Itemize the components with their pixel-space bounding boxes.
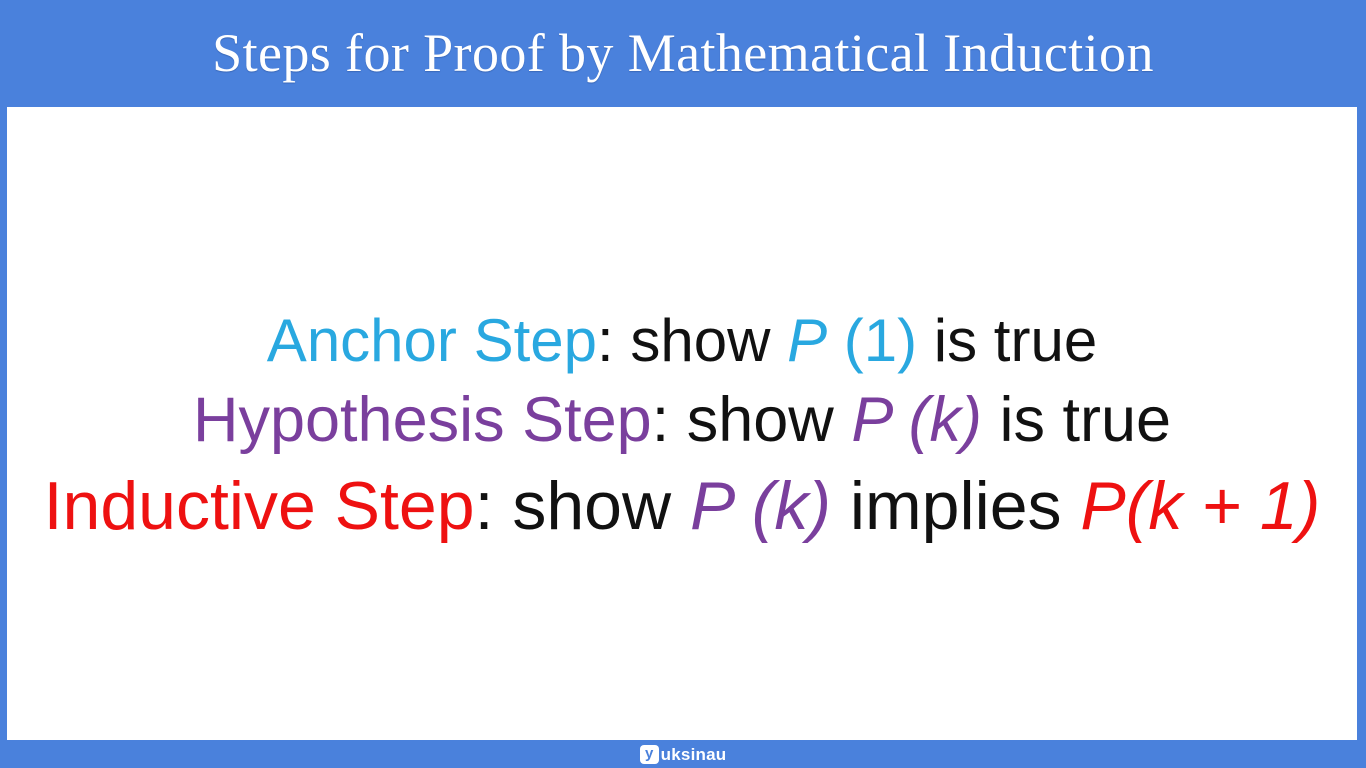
title-banner: Steps for Proof by Mathematical Inductio…: [0, 0, 1366, 106]
predicate-arg-anchor: (1): [827, 307, 917, 374]
step-label-inductive: Inductive Step: [44, 468, 475, 544]
predicate-arg-hypothesis: (k): [891, 385, 982, 455]
conclusion-symbol-inductive: P: [1080, 468, 1125, 544]
page-title: Steps for Proof by Mathematical Inductio…: [212, 25, 1154, 82]
step-tail-inductive: implies: [831, 468, 1080, 544]
induction-steps-list: Anchor Step: show P (1) is true Hypothes…: [7, 107, 1357, 740]
step-verb-inductive: show: [493, 468, 690, 544]
step-colon-anchor: :: [597, 307, 614, 374]
step-line-anchor: Anchor Step: show P (1) is true: [267, 302, 1097, 380]
brand-name-label: uksinau: [661, 746, 727, 763]
predicate-arg-inductive: (k): [733, 468, 831, 544]
predicate-symbol-hypothesis: P: [851, 385, 891, 455]
content-panel: Anchor Step: show P (1) is true Hypothes…: [7, 107, 1357, 740]
step-tail-hypothesis: is true: [982, 385, 1171, 455]
step-label-anchor: Anchor Step: [267, 307, 597, 374]
predicate-symbol-inductive: P: [690, 468, 733, 544]
slide-canvas: Steps for Proof by Mathematical Inductio…: [0, 0, 1366, 768]
conclusion-arg-inductive: (k + 1): [1126, 468, 1321, 544]
step-line-hypothesis: Hypothesis Step: show P (k) is true: [193, 380, 1171, 462]
step-label-hypothesis: Hypothesis Step: [193, 385, 652, 455]
predicate-symbol-anchor: P: [787, 307, 827, 374]
step-tail-anchor: is true: [917, 307, 1097, 374]
step-colon-inductive: :: [475, 468, 494, 544]
brand-watermark: yuksinau: [0, 740, 1366, 768]
brand-logo-icon: y: [640, 745, 659, 764]
step-colon-hypothesis: :: [652, 385, 670, 455]
step-verb-anchor: show: [614, 307, 787, 374]
step-line-inductive: Inductive Step: show P (k) implies P(k +…: [44, 462, 1321, 550]
step-verb-hypothesis: show: [669, 385, 851, 455]
